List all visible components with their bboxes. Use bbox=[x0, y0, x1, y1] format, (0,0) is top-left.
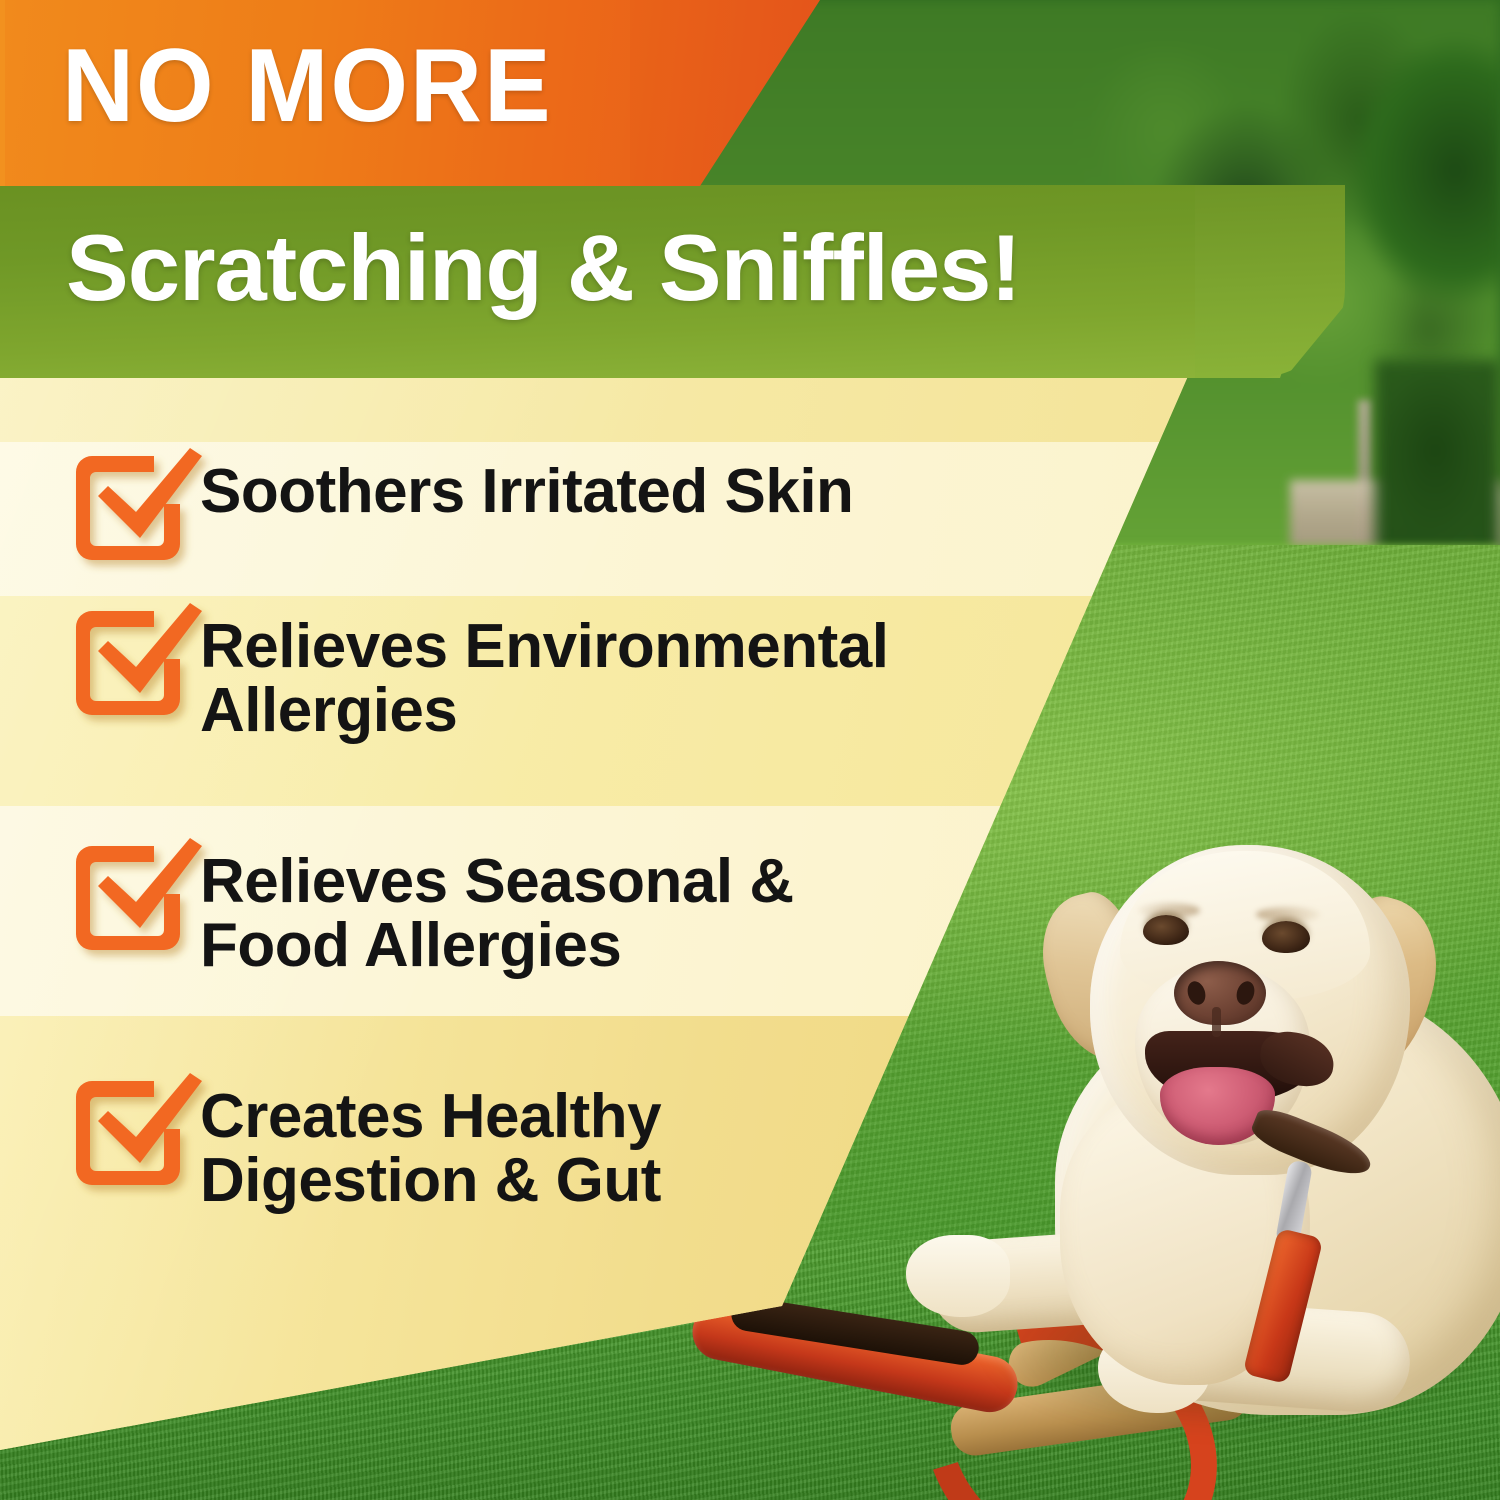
checkbox-checked-icon bbox=[58, 611, 170, 707]
checkbox-checked-icon bbox=[58, 456, 170, 552]
checkbox-checked-icon bbox=[58, 1081, 170, 1177]
dog-eye-right bbox=[1262, 921, 1310, 953]
benefit-label: Soothers Irritated Skin bbox=[200, 456, 853, 524]
dog-nose-bridge bbox=[1212, 1007, 1221, 1037]
benefit-label: Creates Healthy Digestion & Gut bbox=[200, 1081, 661, 1213]
benefit-item: Soothers Irritated Skin bbox=[58, 456, 853, 552]
promo-poster: Soothers Irritated Skin Relieves Environ… bbox=[0, 0, 1500, 1500]
checkbox-checked-icon bbox=[58, 846, 170, 942]
dog-eye-left bbox=[1143, 915, 1189, 945]
dog-labrador bbox=[960, 835, 1500, 1475]
benefit-item: Creates Healthy Digestion & Gut bbox=[58, 1081, 661, 1213]
headline-banner-left-edge bbox=[0, 0, 5, 186]
dog-paw-left bbox=[906, 1235, 1010, 1317]
panel-stripe bbox=[0, 376, 1210, 442]
benefit-label: Relieves Environmental Allergies bbox=[200, 611, 889, 743]
subheadline-text: Scratching & Sniffles! bbox=[66, 221, 1021, 315]
headline-text: NO MORE bbox=[62, 34, 552, 138]
benefit-item: Relieves Environmental Allergies bbox=[58, 611, 889, 743]
dog-brow-right bbox=[1256, 907, 1320, 922]
benefit-label: Relieves Seasonal & Food Allergies bbox=[200, 846, 794, 978]
benefit-item: Relieves Seasonal & Food Allergies bbox=[58, 846, 794, 978]
